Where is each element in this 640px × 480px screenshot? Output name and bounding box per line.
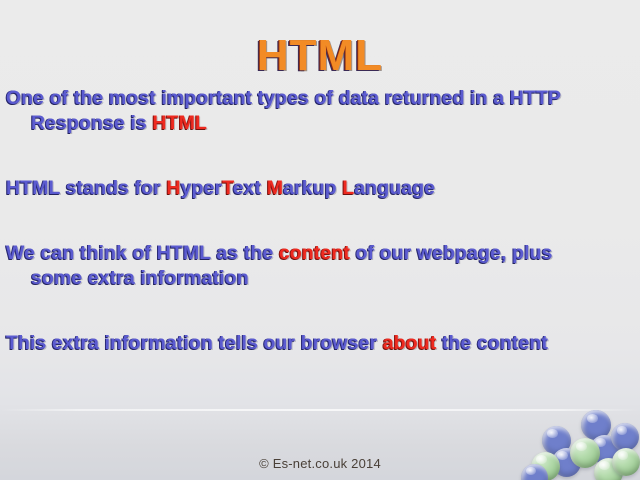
p2-seg-yper: yper [181, 177, 223, 199]
slide-canvas: HTML One of the most important types of … [0, 0, 640, 480]
p2-seg-anguage: anguage [354, 177, 435, 199]
bullet-paragraph-1: One of the most important types of data … [6, 86, 634, 136]
p3-line2-text: some extra information [6, 266, 634, 291]
p3-line1-text-b: of our webpage, plus [350, 242, 553, 264]
slide-title: HTML [0, 31, 640, 81]
slide-body: One of the most important types of data … [6, 86, 634, 356]
p4-seg-a: This extra information tells our browser [6, 332, 383, 354]
p2-acronym-t: T [222, 177, 233, 199]
p2-acronym-m: M [267, 177, 283, 199]
background-band [0, 409, 640, 411]
p1-line2-text: Response is [31, 112, 153, 134]
p4-seg-b: the content [436, 332, 548, 354]
bullet-paragraph-3: We can think of HTML as the content of o… [6, 241, 634, 291]
p1-highlight-html: HTML [153, 112, 208, 134]
bullet-paragraph-4: This extra information tells our browser… [6, 331, 634, 356]
p1-line1-text: One of the most important types of data … [6, 87, 561, 109]
p2-seg-stands-for: HTML stands for [6, 177, 167, 199]
p2-seg-ext: ext [233, 177, 267, 199]
sphere-blue-5 [611, 423, 639, 451]
p3-line1-text-a: We can think of HTML as the [6, 242, 279, 264]
p4-highlight-about: about [383, 332, 437, 354]
p2-seg-arkup: arkup [283, 177, 342, 199]
bullet-paragraph-2: HTML stands for HyperText Markup Languag… [6, 176, 634, 201]
sphere-blue-1 [581, 410, 611, 440]
sphere-blue-2 [542, 426, 571, 455]
p2-acronym-h: H [167, 177, 181, 199]
slide-footer-copyright: © Es-net.co.uk 2014 [0, 456, 640, 471]
p2-acronym-l: L [342, 177, 354, 199]
p1-line2: Response is HTML [6, 111, 634, 136]
p3-highlight-content: content [279, 242, 350, 264]
